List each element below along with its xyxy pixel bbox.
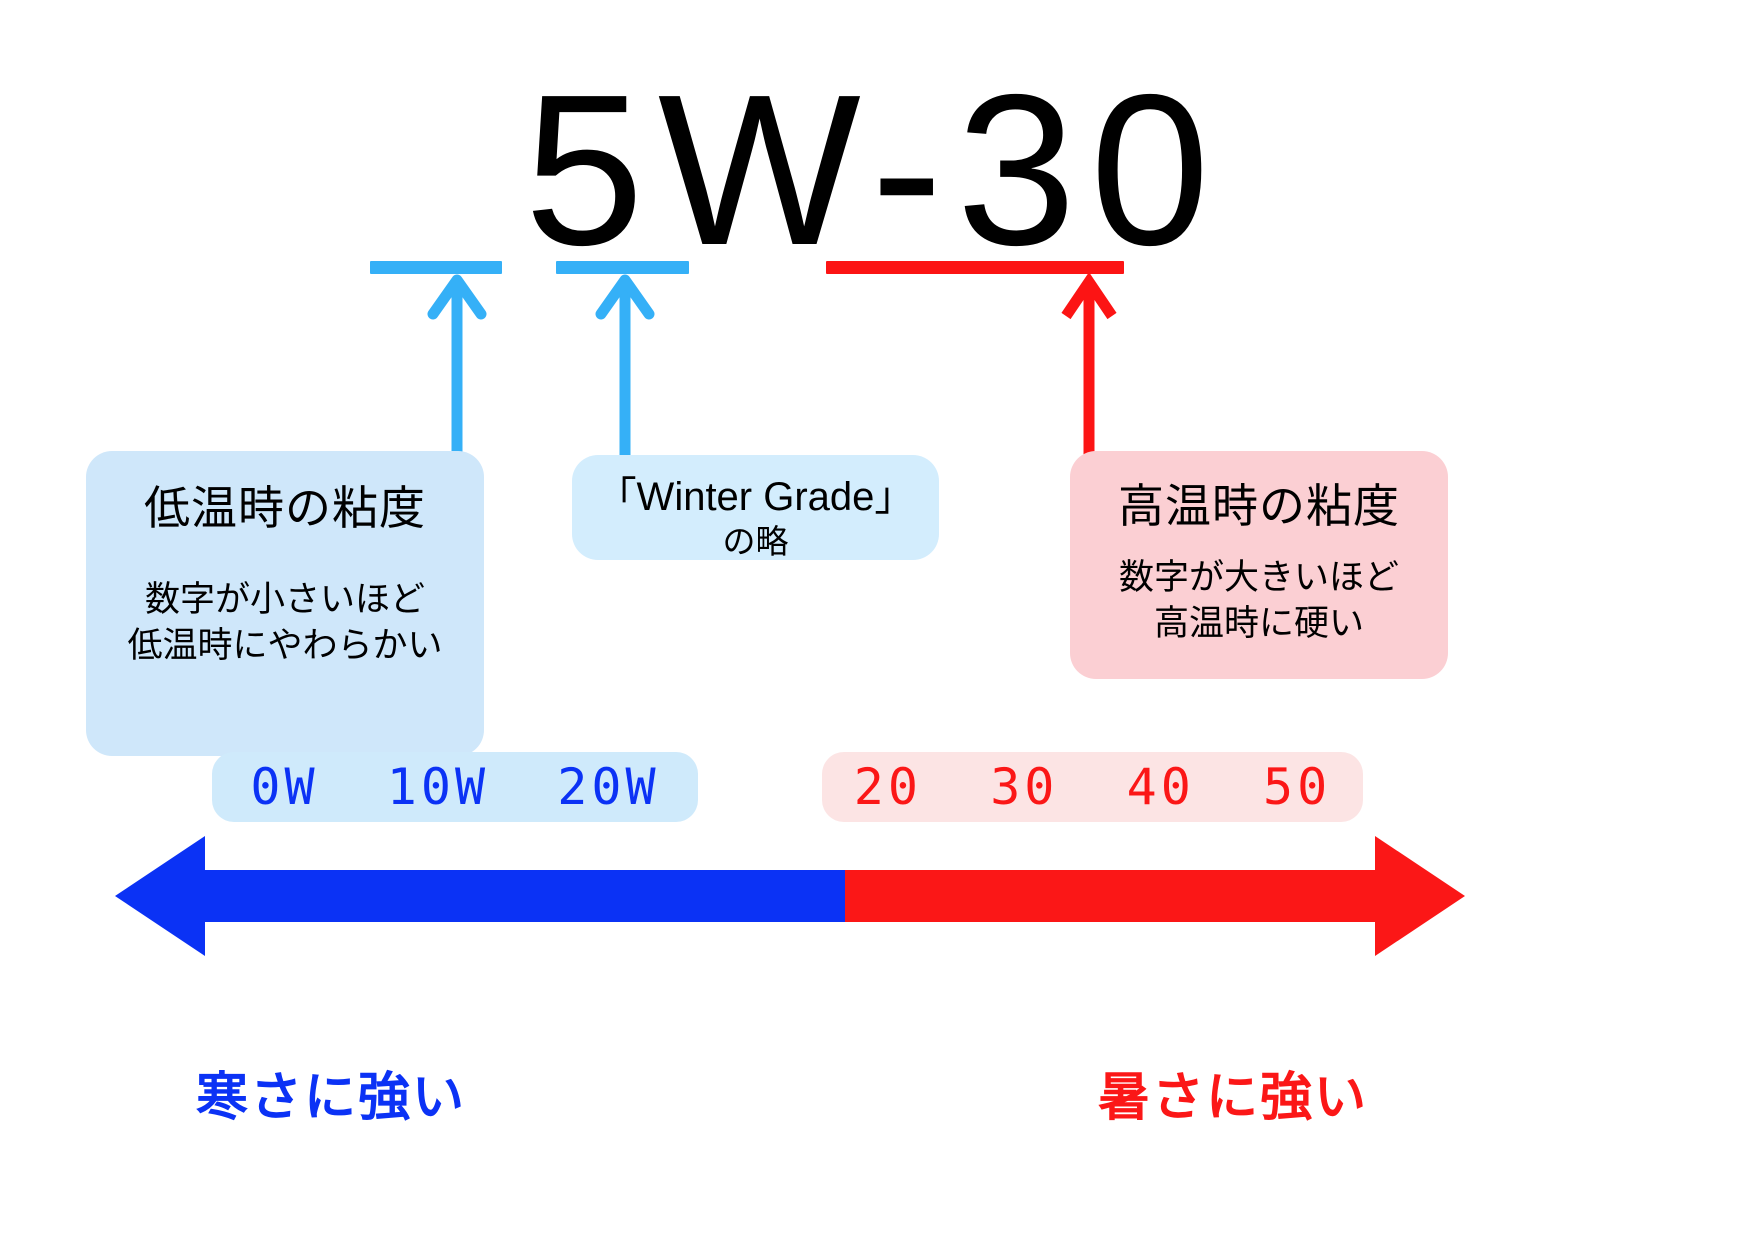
infographic-canvas: 5W-30 低温時の粘度 数字が: [0, 0, 1748, 1240]
callout-high-temp-heading: 高温時の粘度: [1070, 479, 1448, 533]
callout-winter-grade-line-2: の略: [572, 521, 939, 562]
callout-low-temp-sub-line-1: 数字が小さいほど: [86, 577, 484, 623]
grade-strip-cold: 0W 10W 20W: [212, 752, 698, 822]
caption-cold-resistant: 寒さに強い: [196, 1072, 466, 1124]
callout-low-temp-heading: 低温時の粘度: [86, 481, 484, 535]
callout-high-temp-sub-line-1: 数字が大きいほど: [1070, 555, 1448, 601]
callout-low-temp-viscosity: 低温時の粘度 数字が小さいほど 低温時にやわらかい: [86, 451, 484, 756]
connector-arrow-high-temp: [1052, 272, 1132, 462]
page-title: 5W-30: [0, 62, 1748, 277]
caption-heat-resistant: 暑さに強い: [1098, 1072, 1368, 1124]
callout-winter-grade: 「Winter Grade」 の略: [572, 455, 939, 560]
axis-arrow-hot: [845, 836, 1465, 956]
connector-arrow-winter-grade: [588, 272, 668, 462]
callout-high-temp-sub-line-2: 高温時に硬い: [1070, 601, 1448, 647]
callout-high-temp-viscosity: 高温時の粘度 数字が大きいほど 高温時に硬い: [1070, 451, 1448, 679]
callout-winter-grade-line-1: 「Winter Grade」: [572, 473, 939, 521]
temperature-axis-arrow: [110, 832, 1470, 960]
grade-strip-hot: 20 30 40 50: [822, 752, 1363, 822]
connector-arrow-low-temp: [420, 272, 500, 462]
axis-arrow-cold: [115, 836, 845, 956]
callout-low-temp-sub-line-2: 低温時にやわらかい: [86, 623, 484, 669]
